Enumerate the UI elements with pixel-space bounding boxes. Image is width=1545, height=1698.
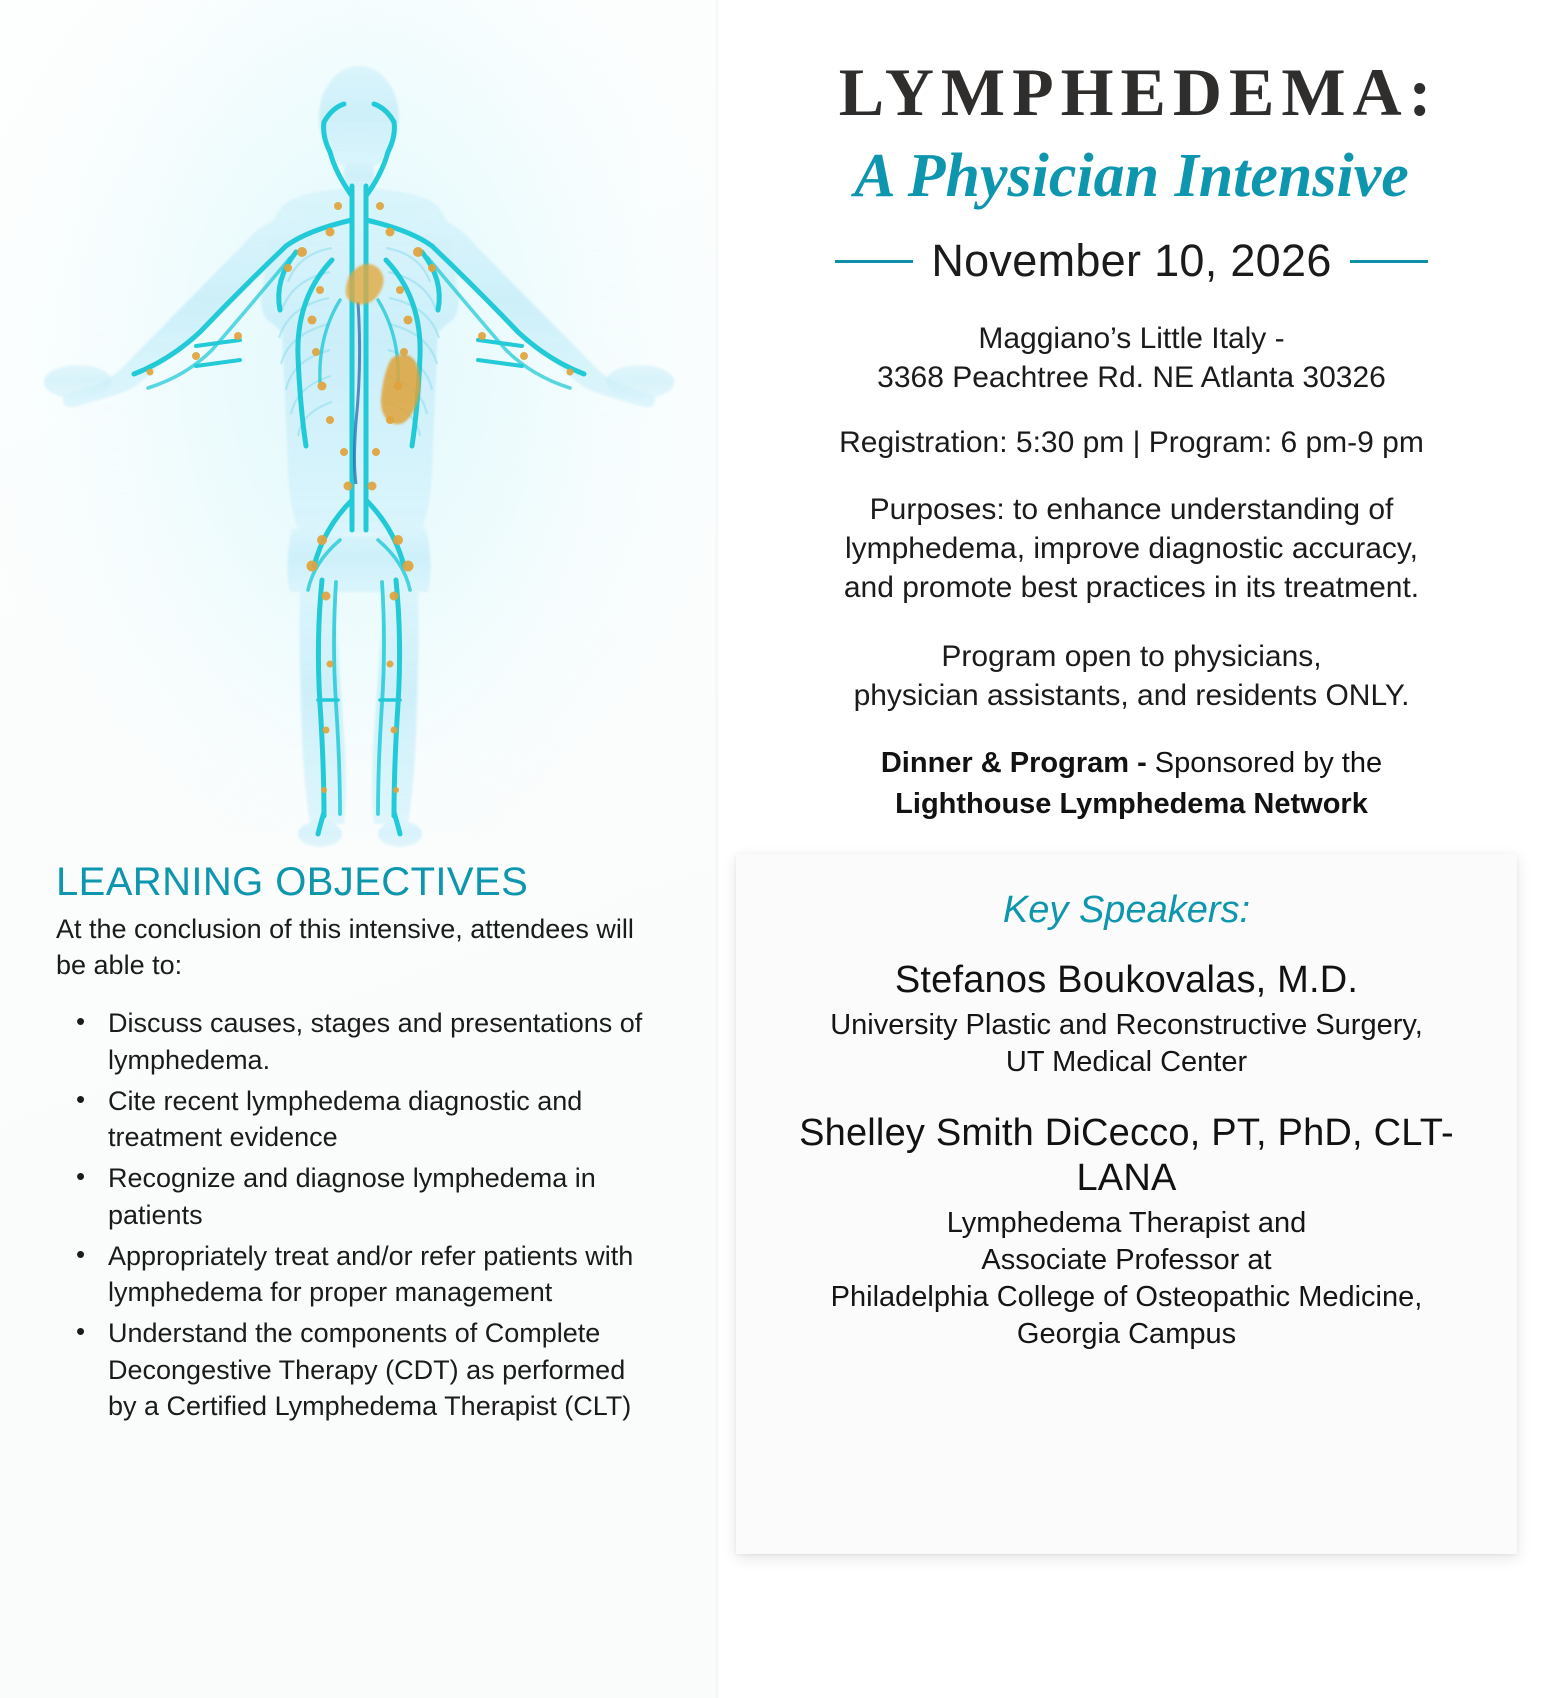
speaker-entry: Stefanos Boukovalas, M.D. University Pla… — [764, 958, 1489, 1081]
affiliation-line: University Plastic and Reconstructive Su… — [830, 1009, 1423, 1041]
lymphatic-figure-svg — [0, 0, 718, 880]
right-panel: LYMPHEDEMA: A Physician Intensive Novemb… — [718, 0, 1545, 1698]
speaker-entry: Shelley Smith DiCecco, PT, PhD, CLT-LANA… — [764, 1111, 1489, 1353]
lymphatic-system-illustration — [0, 0, 718, 880]
list-item: Appropriately treat and/or refer patient… — [102, 1238, 656, 1311]
page-title: LYMPHEDEMA: — [718, 58, 1545, 126]
list-item: Recognize and diagnose lymphedema in pat… — [102, 1160, 656, 1233]
affiliation-line: Georgia Campus — [1017, 1318, 1236, 1350]
key-speakers-card: Key Speakers: Stefanos Boukovalas, M.D. … — [736, 854, 1517, 1554]
purposes-line-2: lymphedema, improve diagnostic accuracy, — [845, 532, 1418, 565]
purposes-statement: Purposes: to enhance understanding of ly… — [774, 490, 1489, 607]
list-item: Cite recent lymphedema diagnostic and tr… — [102, 1083, 656, 1156]
speaker-name: Stefanos Boukovalas, M.D. — [764, 958, 1489, 1003]
learning-objectives-section: LEARNING OBJECTIVES At the conclusion of… — [56, 862, 656, 1429]
learning-objectives-intro: At the conclusion of this intensive, att… — [56, 912, 636, 983]
divider-rule-left — [835, 260, 913, 263]
list-item: Understand the components of Complete De… — [102, 1315, 656, 1425]
purposes-line-1: Purposes: to enhance understanding of — [870, 493, 1394, 526]
affiliation-line: Lymphedema Therapist and — [947, 1207, 1307, 1239]
sponsor-organization: Lighthouse Lymphedema Network — [895, 788, 1368, 820]
learning-objectives-heading: LEARNING OBJECTIVES — [56, 862, 656, 902]
flyer-root: LEARNING OBJECTIVES At the conclusion of… — [0, 0, 1545, 1698]
learning-objectives-list: Discuss causes, stages and presentations… — [56, 1005, 656, 1425]
sponsor-lead: Dinner & Program - — [881, 747, 1147, 779]
speaker-affiliation: University Plastic and Reconstructive Su… — [764, 1007, 1489, 1081]
schedule-line: Registration: 5:30 pm | Program: 6 pm-9 … — [774, 423, 1489, 462]
event-date: November 10, 2026 — [931, 235, 1331, 287]
list-item: Discuss causes, stages and presentations… — [102, 1005, 656, 1078]
event-date-row: November 10, 2026 — [718, 235, 1545, 287]
sponsor-mid: Sponsored by the — [1155, 747, 1382, 779]
venue-name: Maggiano’s Little Italy - — [978, 322, 1284, 355]
page-subtitle: A Physician Intensive — [718, 144, 1545, 209]
speaker-affiliation: Lymphedema Therapist and Associate Profe… — [764, 1205, 1489, 1353]
left-panel: LEARNING OBJECTIVES At the conclusion of… — [0, 0, 718, 1698]
affiliation-line: UT Medical Center — [1006, 1046, 1247, 1078]
eligibility-line-1: Program open to physicians, — [941, 640, 1321, 673]
speaker-name: Shelley Smith DiCecco, PT, PhD, CLT-LANA — [764, 1111, 1489, 1201]
sponsor-line: Dinner & Program - Sponsored by the Ligh… — [718, 743, 1545, 824]
divider-rule-right — [1350, 260, 1428, 263]
event-details: Maggiano’s Little Italy - 3368 Peachtree… — [718, 319, 1545, 715]
venue-street: 3368 Peachtree Rd. NE Atlanta 30326 — [877, 361, 1386, 394]
eligibility-statement: Program open to physicians, physician as… — [774, 637, 1489, 715]
key-speakers-heading: Key Speakers: — [764, 890, 1489, 932]
affiliation-line: Associate Professor at — [981, 1244, 1271, 1276]
purposes-line-3: and promote best practices in its treatm… — [844, 571, 1419, 604]
affiliation-line: Philadelphia College of Osteopathic Medi… — [831, 1281, 1423, 1313]
venue-address: Maggiano’s Little Italy - 3368 Peachtree… — [774, 319, 1489, 397]
eligibility-line-2: physician assistants, and residents ONLY… — [854, 679, 1410, 712]
